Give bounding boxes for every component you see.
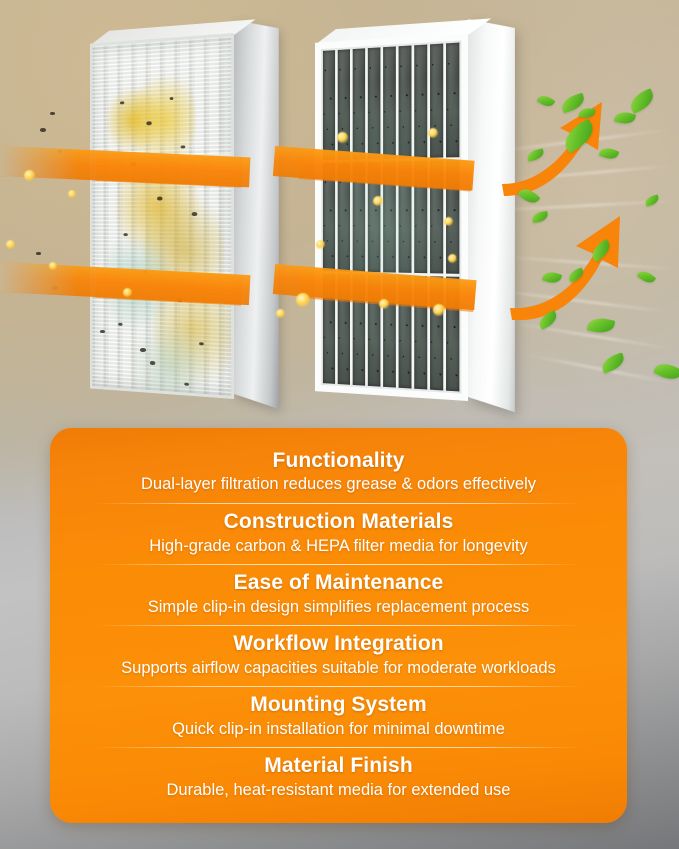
leaf-icon <box>531 211 548 223</box>
leaf-icon <box>653 359 679 384</box>
airflow-arrow-icon <box>508 200 648 320</box>
leaf-icon <box>599 352 626 373</box>
grease-particle-icon <box>24 170 35 181</box>
grease-particle-icon <box>373 196 383 206</box>
leaf-icon <box>518 185 541 207</box>
grease-particle-icon <box>123 288 132 297</box>
leaf-icon <box>526 148 545 161</box>
filter-front-face <box>90 33 234 399</box>
leaf-icon <box>627 88 657 114</box>
feature-divider <box>95 564 582 565</box>
dirty-grease-filter <box>90 33 234 399</box>
feature-item: Ease of Maintenance Simple clip-in desig… <box>50 568 627 622</box>
feature-item: Mounting System Quick clip-in installati… <box>50 690 627 744</box>
grease-particle-icon <box>6 240 15 249</box>
feature-divider <box>95 503 582 504</box>
feature-panel: Functionality Dual-layer filtration redu… <box>50 428 627 823</box>
feature-item: Construction Materials High-grade carbon… <box>50 507 627 561</box>
feature-title: Construction Materials <box>64 509 613 535</box>
grease-particle-icon <box>276 309 285 318</box>
feature-divider <box>95 686 582 687</box>
feature-title: Material Finish <box>64 753 613 779</box>
grease-speck <box>50 112 55 115</box>
feature-description: Simple clip-in design simplifies replace… <box>64 597 613 618</box>
leaf-icon <box>536 310 559 330</box>
grease-particle-icon <box>448 254 457 263</box>
leaf-icon <box>644 194 660 206</box>
grease-particle-icon <box>379 299 389 309</box>
filter-side-panel <box>468 19 515 412</box>
leaf-icon <box>587 315 616 335</box>
filter-side-panel <box>234 20 279 409</box>
leaf-icon <box>537 92 556 109</box>
grease-speck <box>100 330 105 333</box>
grease-speck <box>40 128 46 132</box>
feature-description: High-grade carbon & HEPA filter media fo… <box>64 536 613 557</box>
grease-particle-icon <box>296 293 310 307</box>
grease-particle-icon <box>444 217 453 226</box>
feature-description: Durable, heat-resistant media for extend… <box>64 780 613 801</box>
leaf-icon <box>588 239 613 262</box>
grease-speck <box>140 348 146 352</box>
grease-particle-icon <box>68 190 76 198</box>
leaf-icon <box>567 267 586 282</box>
product-infographic: Functionality Dual-layer filtration redu… <box>0 0 679 849</box>
feature-title: Functionality <box>64 448 613 474</box>
feature-divider <box>95 747 582 748</box>
grease-speck <box>36 252 41 255</box>
leaf-icon <box>542 270 562 286</box>
feature-title: Workflow Integration <box>64 631 613 657</box>
leaf-icon <box>559 119 598 154</box>
grease-particle-icon <box>433 304 445 316</box>
feature-item: Functionality Dual-layer filtration redu… <box>50 446 627 500</box>
leaf-icon <box>637 268 657 286</box>
leaf-icon <box>578 107 595 119</box>
feature-description: Quick clip-in installation for minimal d… <box>64 719 613 740</box>
feature-item: Material Finish Durable, heat-resistant … <box>50 751 627 805</box>
grease-particle-icon <box>337 132 348 143</box>
feature-item: Workflow Integration Supports airflow ca… <box>50 629 627 683</box>
feature-divider <box>95 625 582 626</box>
feature-title: Ease of Maintenance <box>64 570 613 596</box>
leaf-icon <box>599 145 620 162</box>
feature-description: Supports airflow capacities suitable for… <box>64 658 613 679</box>
feature-title: Mounting System <box>64 692 613 718</box>
grease-particle-icon <box>428 128 438 138</box>
feature-description: Dual-layer filtration reduces grease & o… <box>64 474 613 495</box>
grease-particle-icon <box>49 262 57 270</box>
grease-particle-icon <box>316 240 325 249</box>
